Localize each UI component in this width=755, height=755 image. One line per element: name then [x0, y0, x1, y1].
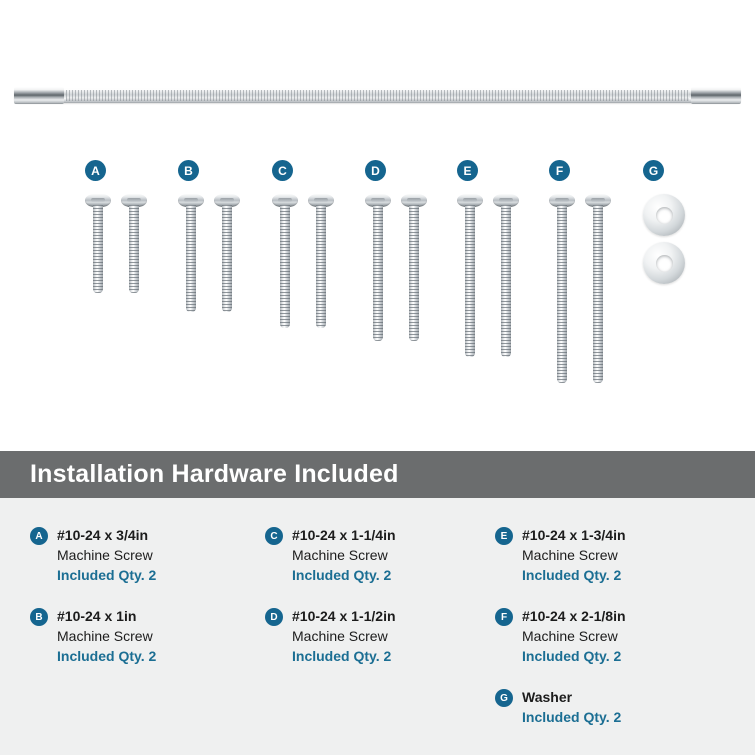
- legend-part-name: #10-24 x 2-1/8in: [522, 607, 735, 626]
- rod-end-cap-right: [691, 87, 741, 104]
- legend-part-desc: Machine Screw: [522, 626, 735, 646]
- screw-icon: [549, 194, 575, 385]
- screw-shaft-icon: [409, 205, 419, 341]
- screw-shaft-icon: [316, 205, 326, 328]
- screw-shaft-icon: [280, 205, 290, 328]
- hardware-group-f: F: [549, 160, 570, 181]
- legend-item-e: E#10-24 x 1-3/4inMachine ScrewIncluded Q…: [495, 526, 735, 585]
- hardware-group-d: D: [365, 160, 386, 181]
- screw-shaft-icon: [222, 205, 232, 312]
- legend-item-f: F#10-24 x 2-1/8inMachine ScrewIncluded Q…: [495, 607, 735, 666]
- legend-part-name: #10-24 x 1in: [57, 607, 260, 626]
- group-parts-g: [643, 194, 685, 284]
- legend-item-b: B#10-24 x 1inMachine ScrewIncluded Qty. …: [30, 607, 260, 666]
- legend-badge-d: D: [265, 608, 283, 626]
- legend-column-1: A#10-24 x 3/4inMachine ScrewIncluded Qty…: [30, 498, 260, 688]
- legend-badge-b: B: [30, 608, 48, 626]
- legend-part-desc: Machine Screw: [292, 545, 495, 565]
- legend-column-2: C#10-24 x 1-1/4inMachine ScrewIncluded Q…: [265, 498, 495, 688]
- legend-part-desc: Machine Screw: [57, 545, 260, 565]
- legend-part-qty: Included Qty. 2: [292, 565, 495, 585]
- screw-icon: [214, 194, 240, 314]
- group-parts-a: [85, 194, 147, 295]
- screw-icon: [493, 194, 519, 359]
- hardware-group-b: B: [178, 160, 199, 181]
- legend-item-a: A#10-24 x 3/4inMachine ScrewIncluded Qty…: [30, 526, 260, 585]
- legend-badge-a: A: [30, 527, 48, 545]
- group-badge-d: D: [365, 160, 386, 181]
- screw-icon: [121, 194, 147, 295]
- legend-part-qty: Included Qty. 2: [522, 707, 735, 727]
- legend-part-name: #10-24 x 1-1/4in: [292, 526, 495, 545]
- legend-item-c: C#10-24 x 1-1/4inMachine ScrewIncluded Q…: [265, 526, 495, 585]
- legend-item-d: D#10-24 x 1-1/2inMachine ScrewIncluded Q…: [265, 607, 495, 666]
- screw-shaft-icon: [186, 205, 196, 312]
- legend-badge-e: E: [495, 527, 513, 545]
- legend-part-qty: Included Qty. 2: [57, 646, 260, 666]
- screw-icon: [308, 194, 334, 330]
- washer-hole: [656, 255, 673, 272]
- washer-icon: [643, 242, 685, 284]
- group-badge-a: A: [85, 160, 106, 181]
- legend-part-name: Washer: [522, 688, 735, 707]
- washer-icon: [643, 194, 685, 236]
- legend-part-name: #10-24 x 1-3/4in: [522, 526, 735, 545]
- group-badge-b: B: [178, 160, 199, 181]
- hardware-group-a: A: [85, 160, 106, 181]
- legend-badge-f: F: [495, 608, 513, 626]
- tension-rod: [14, 82, 741, 108]
- product-image-area: ABCDEFG: [0, 0, 755, 451]
- hardware-group-g: G: [643, 160, 664, 181]
- screw-shaft-icon: [93, 205, 103, 293]
- page-title: Installation Hardware Included: [30, 460, 399, 489]
- group-badge-e: E: [457, 160, 478, 181]
- group-badge-c: C: [272, 160, 293, 181]
- legend-item-g: GWasherIncluded Qty. 2: [495, 688, 735, 727]
- screw-shaft-icon: [465, 205, 475, 357]
- hardware-legend-panel: A#10-24 x 3/4inMachine ScrewIncluded Qty…: [0, 498, 755, 755]
- group-parts-f: [549, 194, 611, 385]
- rod-knurled-section: [66, 90, 689, 101]
- screw-icon: [585, 194, 611, 385]
- screw-icon: [272, 194, 298, 330]
- legend-part-qty: Included Qty. 2: [522, 565, 735, 585]
- screw-shaft-icon: [557, 205, 567, 383]
- rod-end-cap-left: [14, 87, 64, 104]
- hardware-group-e: E: [457, 160, 478, 181]
- section-header-bar: Installation Hardware Included: [0, 451, 755, 498]
- washer-hole: [656, 207, 673, 224]
- legend-part-name: #10-24 x 3/4in: [57, 526, 260, 545]
- legend-badge-c: C: [265, 527, 283, 545]
- screw-shaft-icon: [129, 205, 139, 293]
- legend-badge-g: G: [495, 689, 513, 707]
- screw-icon: [178, 194, 204, 314]
- group-badge-f: F: [549, 160, 570, 181]
- group-parts-e: [457, 194, 519, 359]
- legend-part-name: #10-24 x 1-1/2in: [292, 607, 495, 626]
- screw-icon: [85, 194, 111, 295]
- screw-icon: [401, 194, 427, 343]
- legend-part-desc: Machine Screw: [522, 545, 735, 565]
- legend-column-3: E#10-24 x 1-3/4inMachine ScrewIncluded Q…: [495, 498, 735, 749]
- screw-icon: [457, 194, 483, 359]
- legend-part-desc: Machine Screw: [292, 626, 495, 646]
- legend-part-qty: Included Qty. 2: [522, 646, 735, 666]
- legend-part-qty: Included Qty. 2: [57, 565, 260, 585]
- legend-part-desc: Machine Screw: [57, 626, 260, 646]
- hardware-group-c: C: [272, 160, 293, 181]
- screw-shaft-icon: [593, 205, 603, 383]
- group-parts-b: [178, 194, 240, 314]
- screw-icon: [365, 194, 391, 343]
- screw-shaft-icon: [501, 205, 511, 357]
- group-badge-g: G: [643, 160, 664, 181]
- group-parts-c: [272, 194, 334, 330]
- legend-part-qty: Included Qty. 2: [292, 646, 495, 666]
- group-parts-d: [365, 194, 427, 343]
- screw-shaft-icon: [373, 205, 383, 341]
